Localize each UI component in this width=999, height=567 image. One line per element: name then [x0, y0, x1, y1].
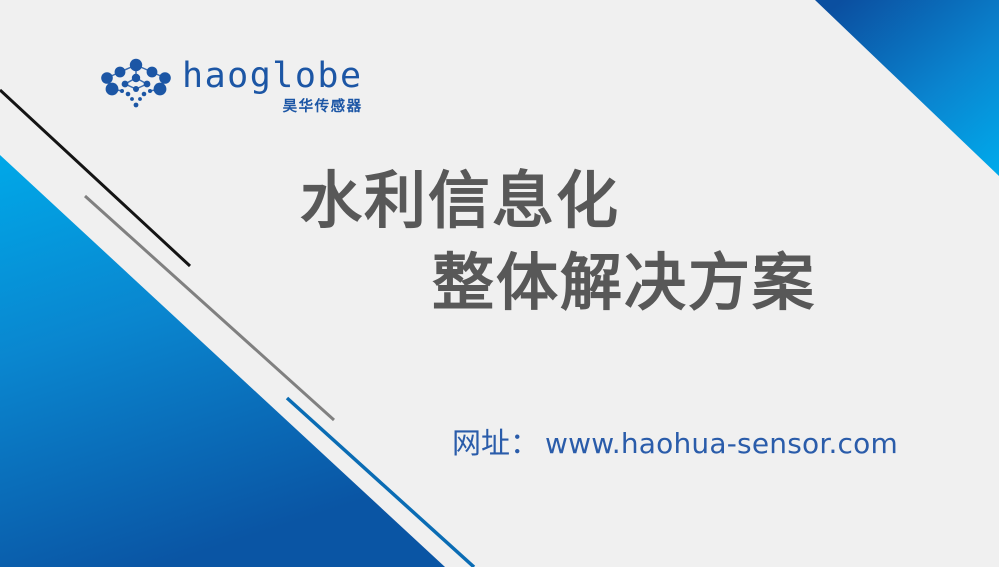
title-line-1: 水利信息化: [300, 160, 920, 242]
top-right-blue-triangle: [815, 0, 999, 176]
logo-subtitle-chinese: 昊华传感器: [283, 95, 363, 116]
website-line: 网址： www.haohua-sensor.com: [452, 420, 898, 462]
logo-wordmark: haoglobe: [182, 60, 363, 94]
page-title: 水利信息化 整体解决方案: [300, 160, 920, 324]
title-line-2: 整体解决方案: [300, 242, 920, 324]
website-url[interactable]: www.haohua-sensor.com: [545, 427, 898, 460]
website-label: 网址：: [452, 420, 539, 462]
logo-text: haoglobe 昊华传感器: [182, 58, 363, 116]
company-logo: haoglobe 昊华传感器: [98, 58, 363, 116]
title-slide: haoglobe 昊华传感器 水利信息化 整体解决方案 网址： www.haoh…: [0, 0, 999, 567]
molecule-network-icon: [98, 58, 174, 114]
